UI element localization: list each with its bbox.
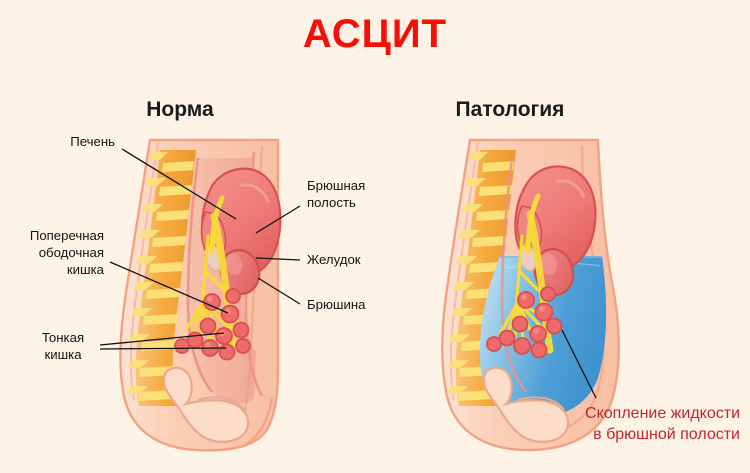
label-fluid-accumulation: Скопление жидкости в брюшной полости [470, 404, 740, 446]
label-transverse-colon: Поперечная ободочная кишка [4, 228, 104, 279]
label-small-intestine: Тонкая кишка [18, 330, 108, 364]
label-stomach: Желудок [307, 252, 417, 269]
label-liver: Печень [20, 134, 115, 151]
label-abdominal-cavity: Брюшная полость [307, 178, 417, 212]
figure-normal [120, 140, 280, 450]
anatomy-figures [0, 0, 750, 473]
label-peritoneum: Брюшина [307, 297, 417, 314]
illustration-canvas: АСЦИТ Норма Патология [0, 0, 750, 473]
